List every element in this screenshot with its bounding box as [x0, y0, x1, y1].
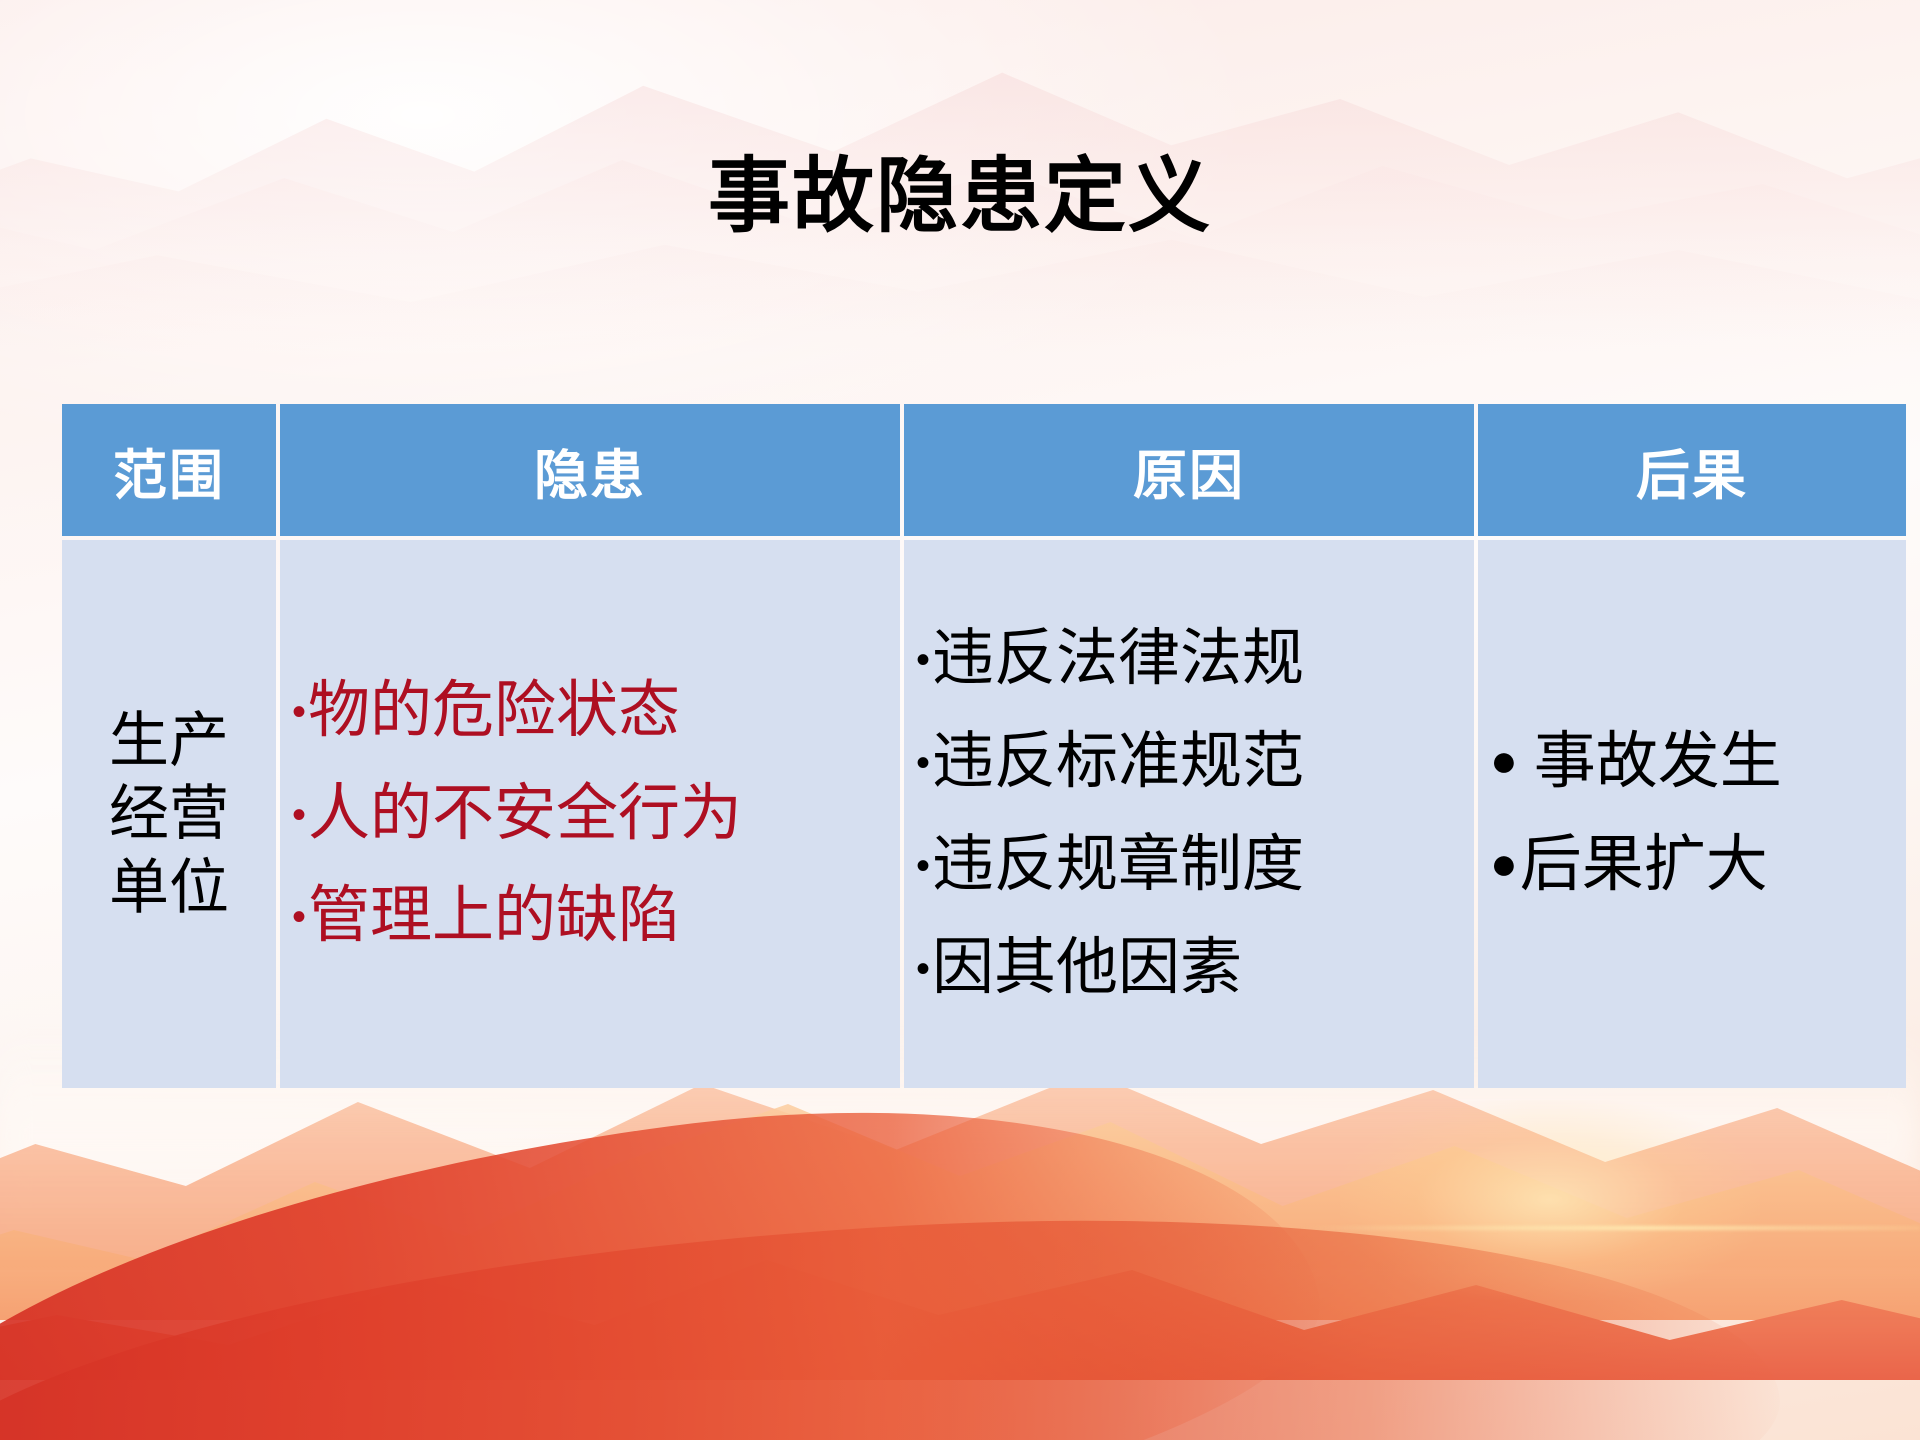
bullet-icon: •: [292, 795, 306, 835]
slide-canvas: 事故隐患定义 范围 隐患 原因 后果 生产 经营: [0, 0, 1920, 1440]
list-item-label: 违反标准规范: [932, 729, 1304, 796]
list-item-label: 物的危险状态: [308, 678, 680, 745]
table-header-row: 范围 隐患 原因 后果: [62, 404, 1906, 536]
bullet-icon: •: [916, 640, 930, 680]
bullet-icon: ●: [1490, 840, 1518, 886]
column-header-cause: 原因: [904, 404, 1474, 536]
bullet-icon: •: [292, 897, 306, 937]
cell-scope: 生产 经营 单位: [62, 540, 276, 1088]
definition-table-container: 范围 隐患 原因 后果 生产 经营 单位: [58, 400, 1910, 1092]
list-item-label: 人的不安全行为: [308, 781, 742, 848]
list-item: ● 事故发生: [1490, 729, 1894, 796]
cause-list: • 违反法律法规 • 违反标准规范 • 违反规章制度: [916, 626, 1462, 1002]
list-item-label: 管理上的缺陷: [308, 883, 680, 950]
scope-line: 生产: [74, 704, 264, 777]
list-item-label: 违反规章制度: [932, 832, 1304, 899]
list-item: • 违反标准规范: [916, 729, 1462, 796]
bullet-icon: •: [916, 743, 930, 783]
background-light-streak: [1300, 1226, 1920, 1230]
list-item: • 管理上的缺陷: [292, 883, 888, 950]
list-item: • 人的不安全行为: [292, 781, 888, 848]
list-item: ● 后果扩大: [1490, 832, 1894, 899]
hazard-list: • 物的危险状态 • 人的不安全行为 • 管理上的缺陷: [292, 678, 888, 951]
bullet-icon: ●: [1490, 737, 1518, 783]
list-item: • 违反法律法规: [916, 626, 1462, 693]
scope-line: 经营: [74, 777, 264, 850]
scope-line: 单位: [74, 851, 264, 924]
bullet-icon: •: [916, 846, 930, 886]
bullet-icon: •: [916, 949, 930, 989]
bullet-icon: •: [292, 692, 306, 732]
cell-consequence: ● 事故发生 ● 后果扩大: [1478, 540, 1906, 1088]
column-header-scope: 范围: [62, 404, 276, 536]
column-header-hazard: 隐患: [280, 404, 900, 536]
list-item: • 物的危险状态: [292, 678, 888, 745]
list-item-label: 违反法律法规: [932, 626, 1304, 693]
list-item-label: 后果扩大: [1520, 832, 1768, 899]
cell-hazard: • 物的危险状态 • 人的不安全行为 • 管理上的缺陷: [280, 540, 900, 1088]
cell-cause: • 违反法律法规 • 违反标准规范 • 违反规章制度: [904, 540, 1474, 1088]
column-header-consequence: 后果: [1478, 404, 1906, 536]
list-item-label: 因其他因素: [932, 935, 1242, 1002]
list-item: • 违反规章制度: [916, 832, 1462, 899]
consequence-list: ● 事故发生 ● 后果扩大: [1490, 729, 1894, 899]
list-item-label: 事故发生: [1534, 729, 1782, 796]
definition-table: 范围 隐患 原因 后果 生产 经营 单位: [58, 400, 1910, 1092]
list-item: • 因其他因素: [916, 935, 1462, 1002]
table-body-row: 生产 经营 单位 • 物的危险状态 •: [62, 540, 1906, 1088]
slide-title: 事故隐患定义: [0, 152, 1920, 242]
